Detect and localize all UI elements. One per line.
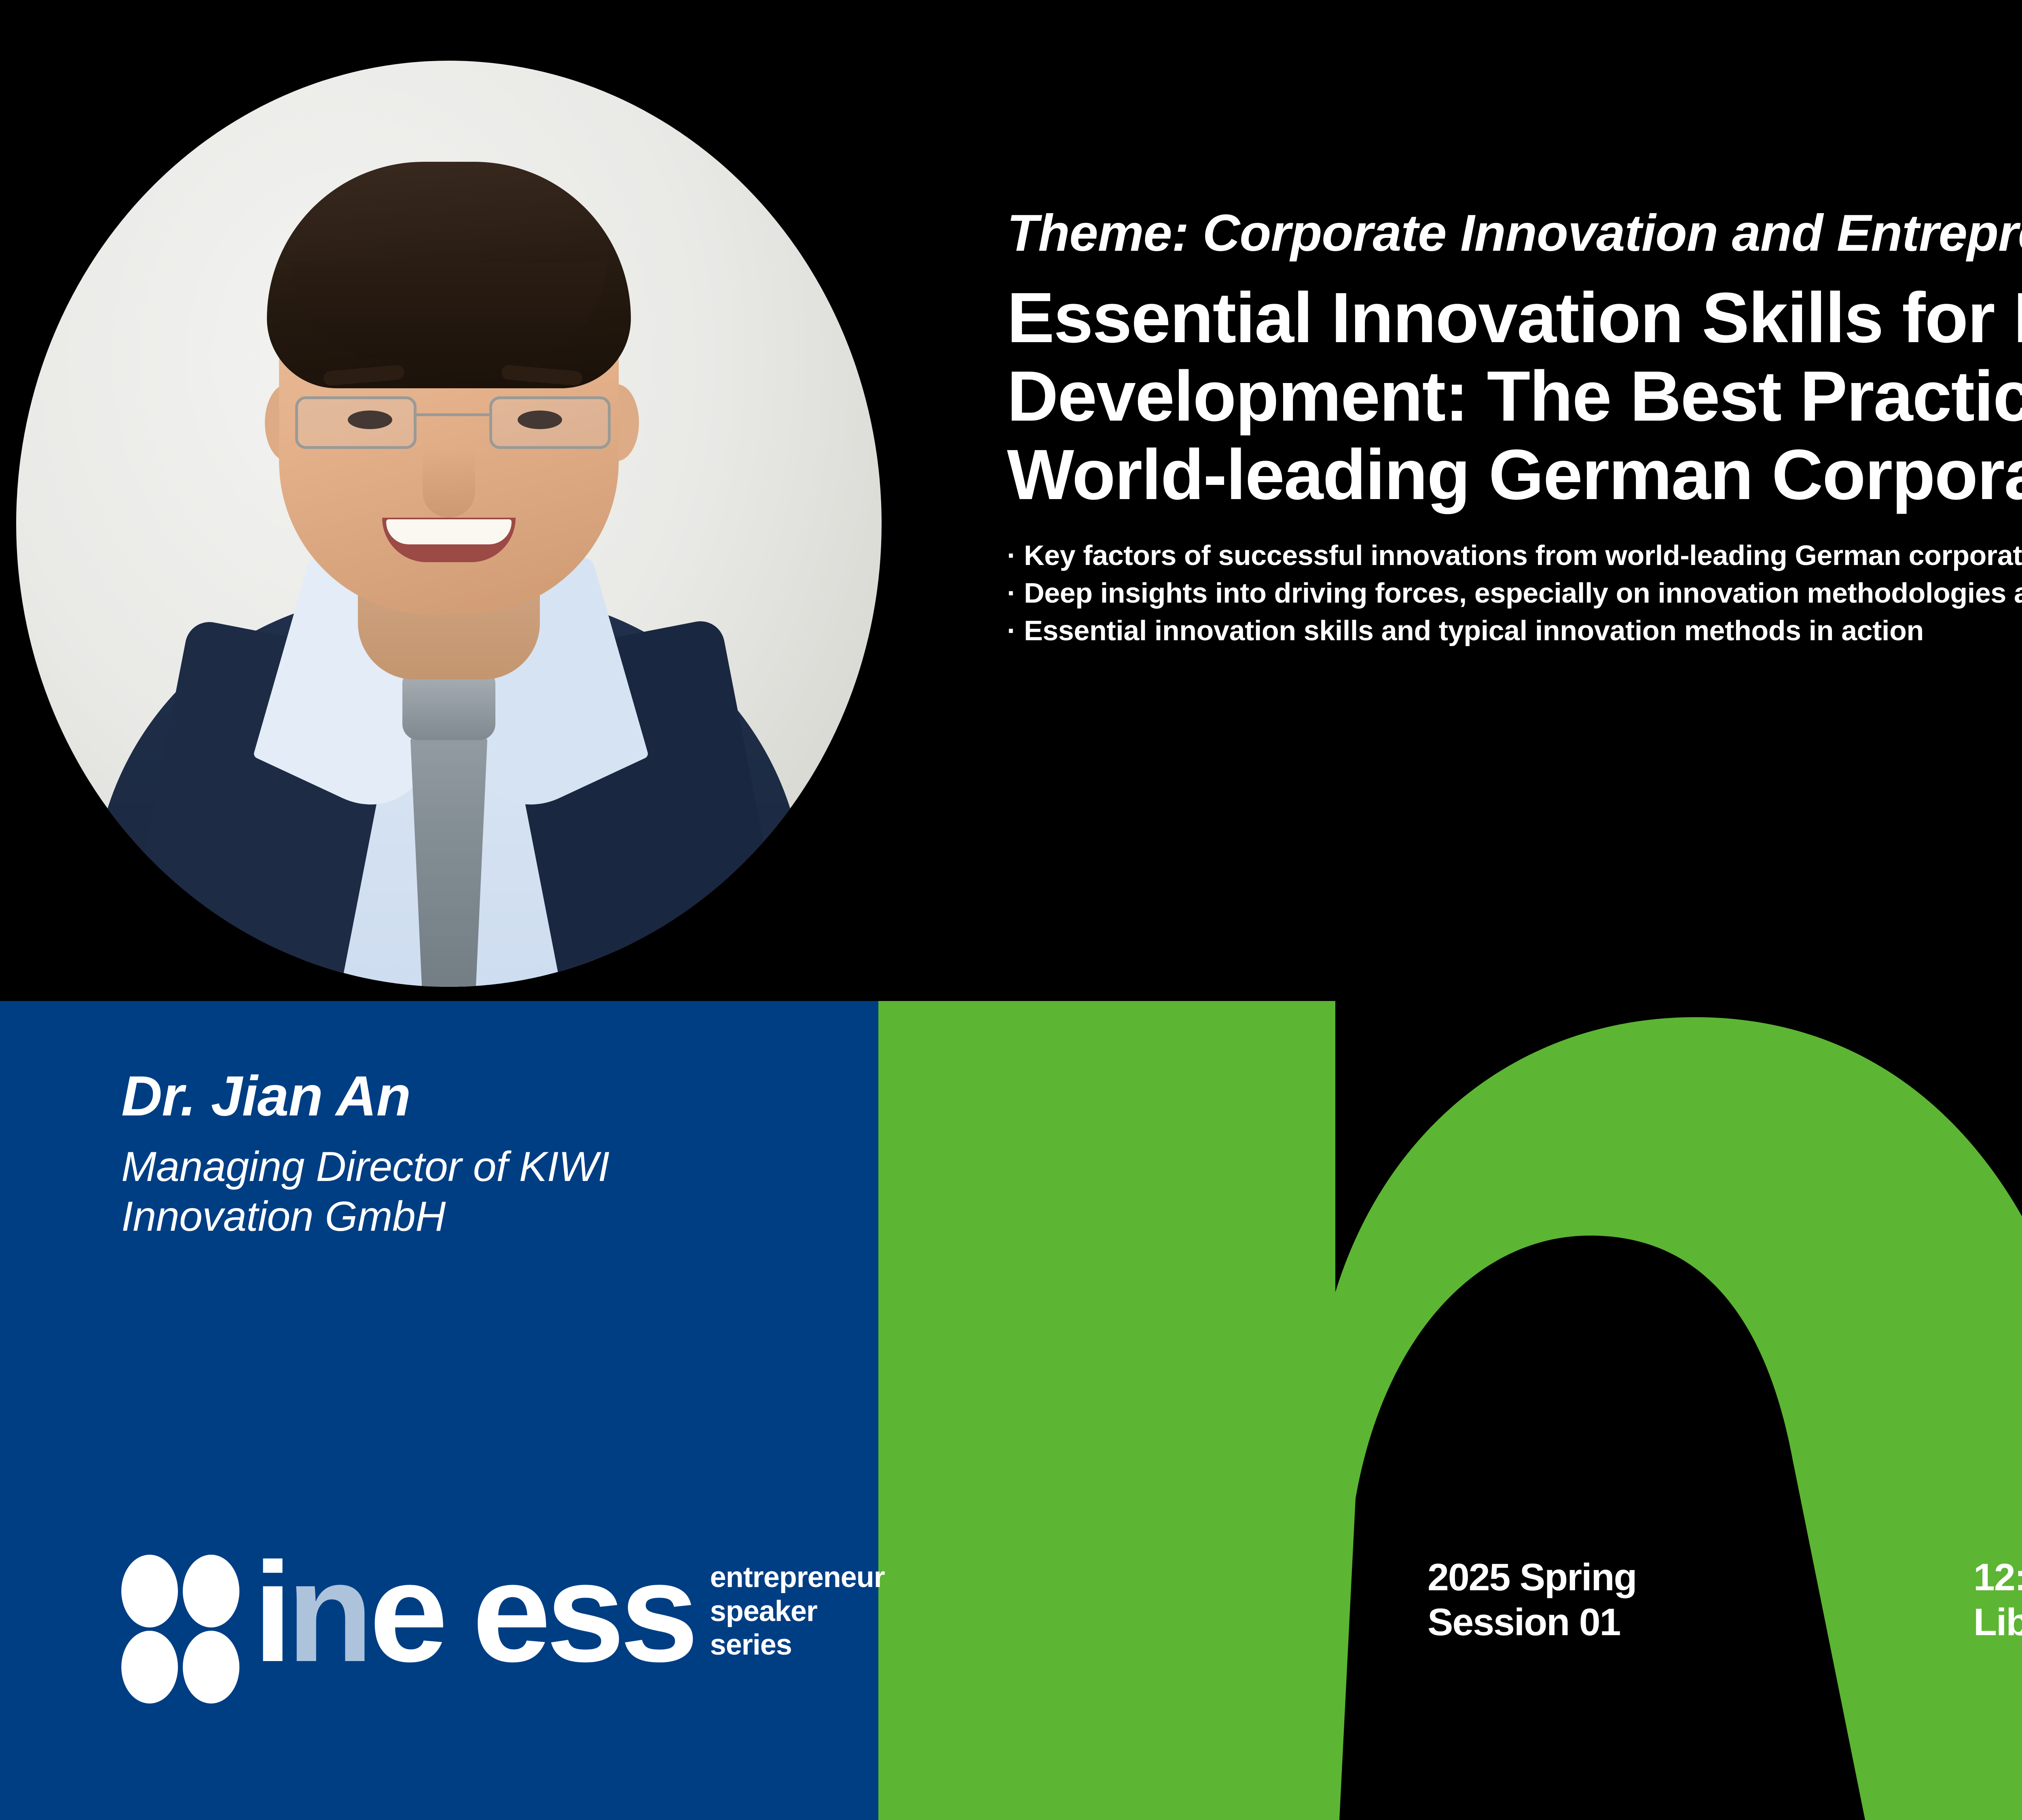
- bullet-item: · Key factors of successful innovations …: [1007, 537, 2022, 574]
- event-poster: Theme: Corporate Innovation and Entrepre…: [0, 0, 2022, 1820]
- lens-left: [295, 396, 417, 449]
- dot-top-right: [183, 1555, 239, 1627]
- portrait-nose: [423, 449, 475, 518]
- logo-lockup: i n e ess entrepreneur speaker series: [121, 1533, 885, 1666]
- speaker-role-line-1: Managing Director of KIWI: [121, 1142, 890, 1192]
- speaker-role: Managing Director of KIWI Innovation Gmb…: [121, 1142, 890, 1241]
- speaker-block: Dr. Jian An Managing Director of KIWI In…: [121, 1068, 890, 1241]
- title-line-2: Development: The Best Practices from: [1007, 358, 2022, 436]
- ine-wordmark: i n e: [253, 1559, 446, 1666]
- four-dots-icon: [121, 1555, 243, 1664]
- ine-letter-e: e: [369, 1559, 446, 1666]
- title-line-3: World-leading German Corporates: [1007, 436, 2022, 514]
- theme-line: Theme: Corporate Innovation and Entrepre…: [1007, 206, 2022, 260]
- bullet-item: · Deep insights into driving forces, esp…: [1007, 574, 2022, 612]
- speaker-photo: [16, 61, 882, 987]
- time-line: 12:00-13:30: [1973, 1555, 2022, 1600]
- portrait-hair: [267, 162, 631, 388]
- lens-right: [489, 396, 611, 449]
- time-location-info: 12:00-13:30 Library 2001: [1973, 1555, 2022, 1645]
- ine-letter-i: i: [253, 1559, 287, 1666]
- page-title: Essential Innovation Skills for Personal…: [1007, 279, 2022, 514]
- ess-subtitle-line-1: entrepreneur: [710, 1561, 885, 1595]
- bullet-list: · Key factors of successful innovations …: [1007, 537, 2022, 650]
- ine-letter-n: n: [287, 1559, 369, 1666]
- dot-top-left: [121, 1555, 178, 1627]
- bullet-item: · Essential innovation skills and typica…: [1007, 612, 2022, 650]
- location-line: Library 2001: [1973, 1600, 2022, 1645]
- ess-subtitle-line-2: speaker: [710, 1595, 885, 1629]
- dot-bottom-right: [183, 1631, 239, 1704]
- speaker-name: Dr. Jian An: [121, 1068, 890, 1124]
- giant-n-letterform: [878, 1001, 2022, 1820]
- header-block: Theme: Corporate Innovation and Entrepre…: [1007, 206, 2022, 650]
- portrait-teeth: [386, 519, 512, 544]
- session-line-2: Session 01: [1428, 1600, 1637, 1645]
- ess-wordmark: ess: [472, 1559, 694, 1666]
- glasses-bridge: [417, 413, 489, 416]
- eyeglasses-icon: [295, 392, 611, 453]
- ess-subtitle-line-3: series: [710, 1628, 885, 1662]
- dot-bottom-left: [121, 1631, 178, 1704]
- title-line-1: Essential Innovation Skills for Personal: [1007, 279, 2022, 358]
- session-line-1: 2025 Spring: [1428, 1555, 1637, 1600]
- ess-subtitle: entrepreneur speaker series: [710, 1561, 885, 1662]
- session-info: 2025 Spring Session 01: [1428, 1555, 1637, 1645]
- speaker-role-line-2: Innovation GmbH: [121, 1192, 890, 1242]
